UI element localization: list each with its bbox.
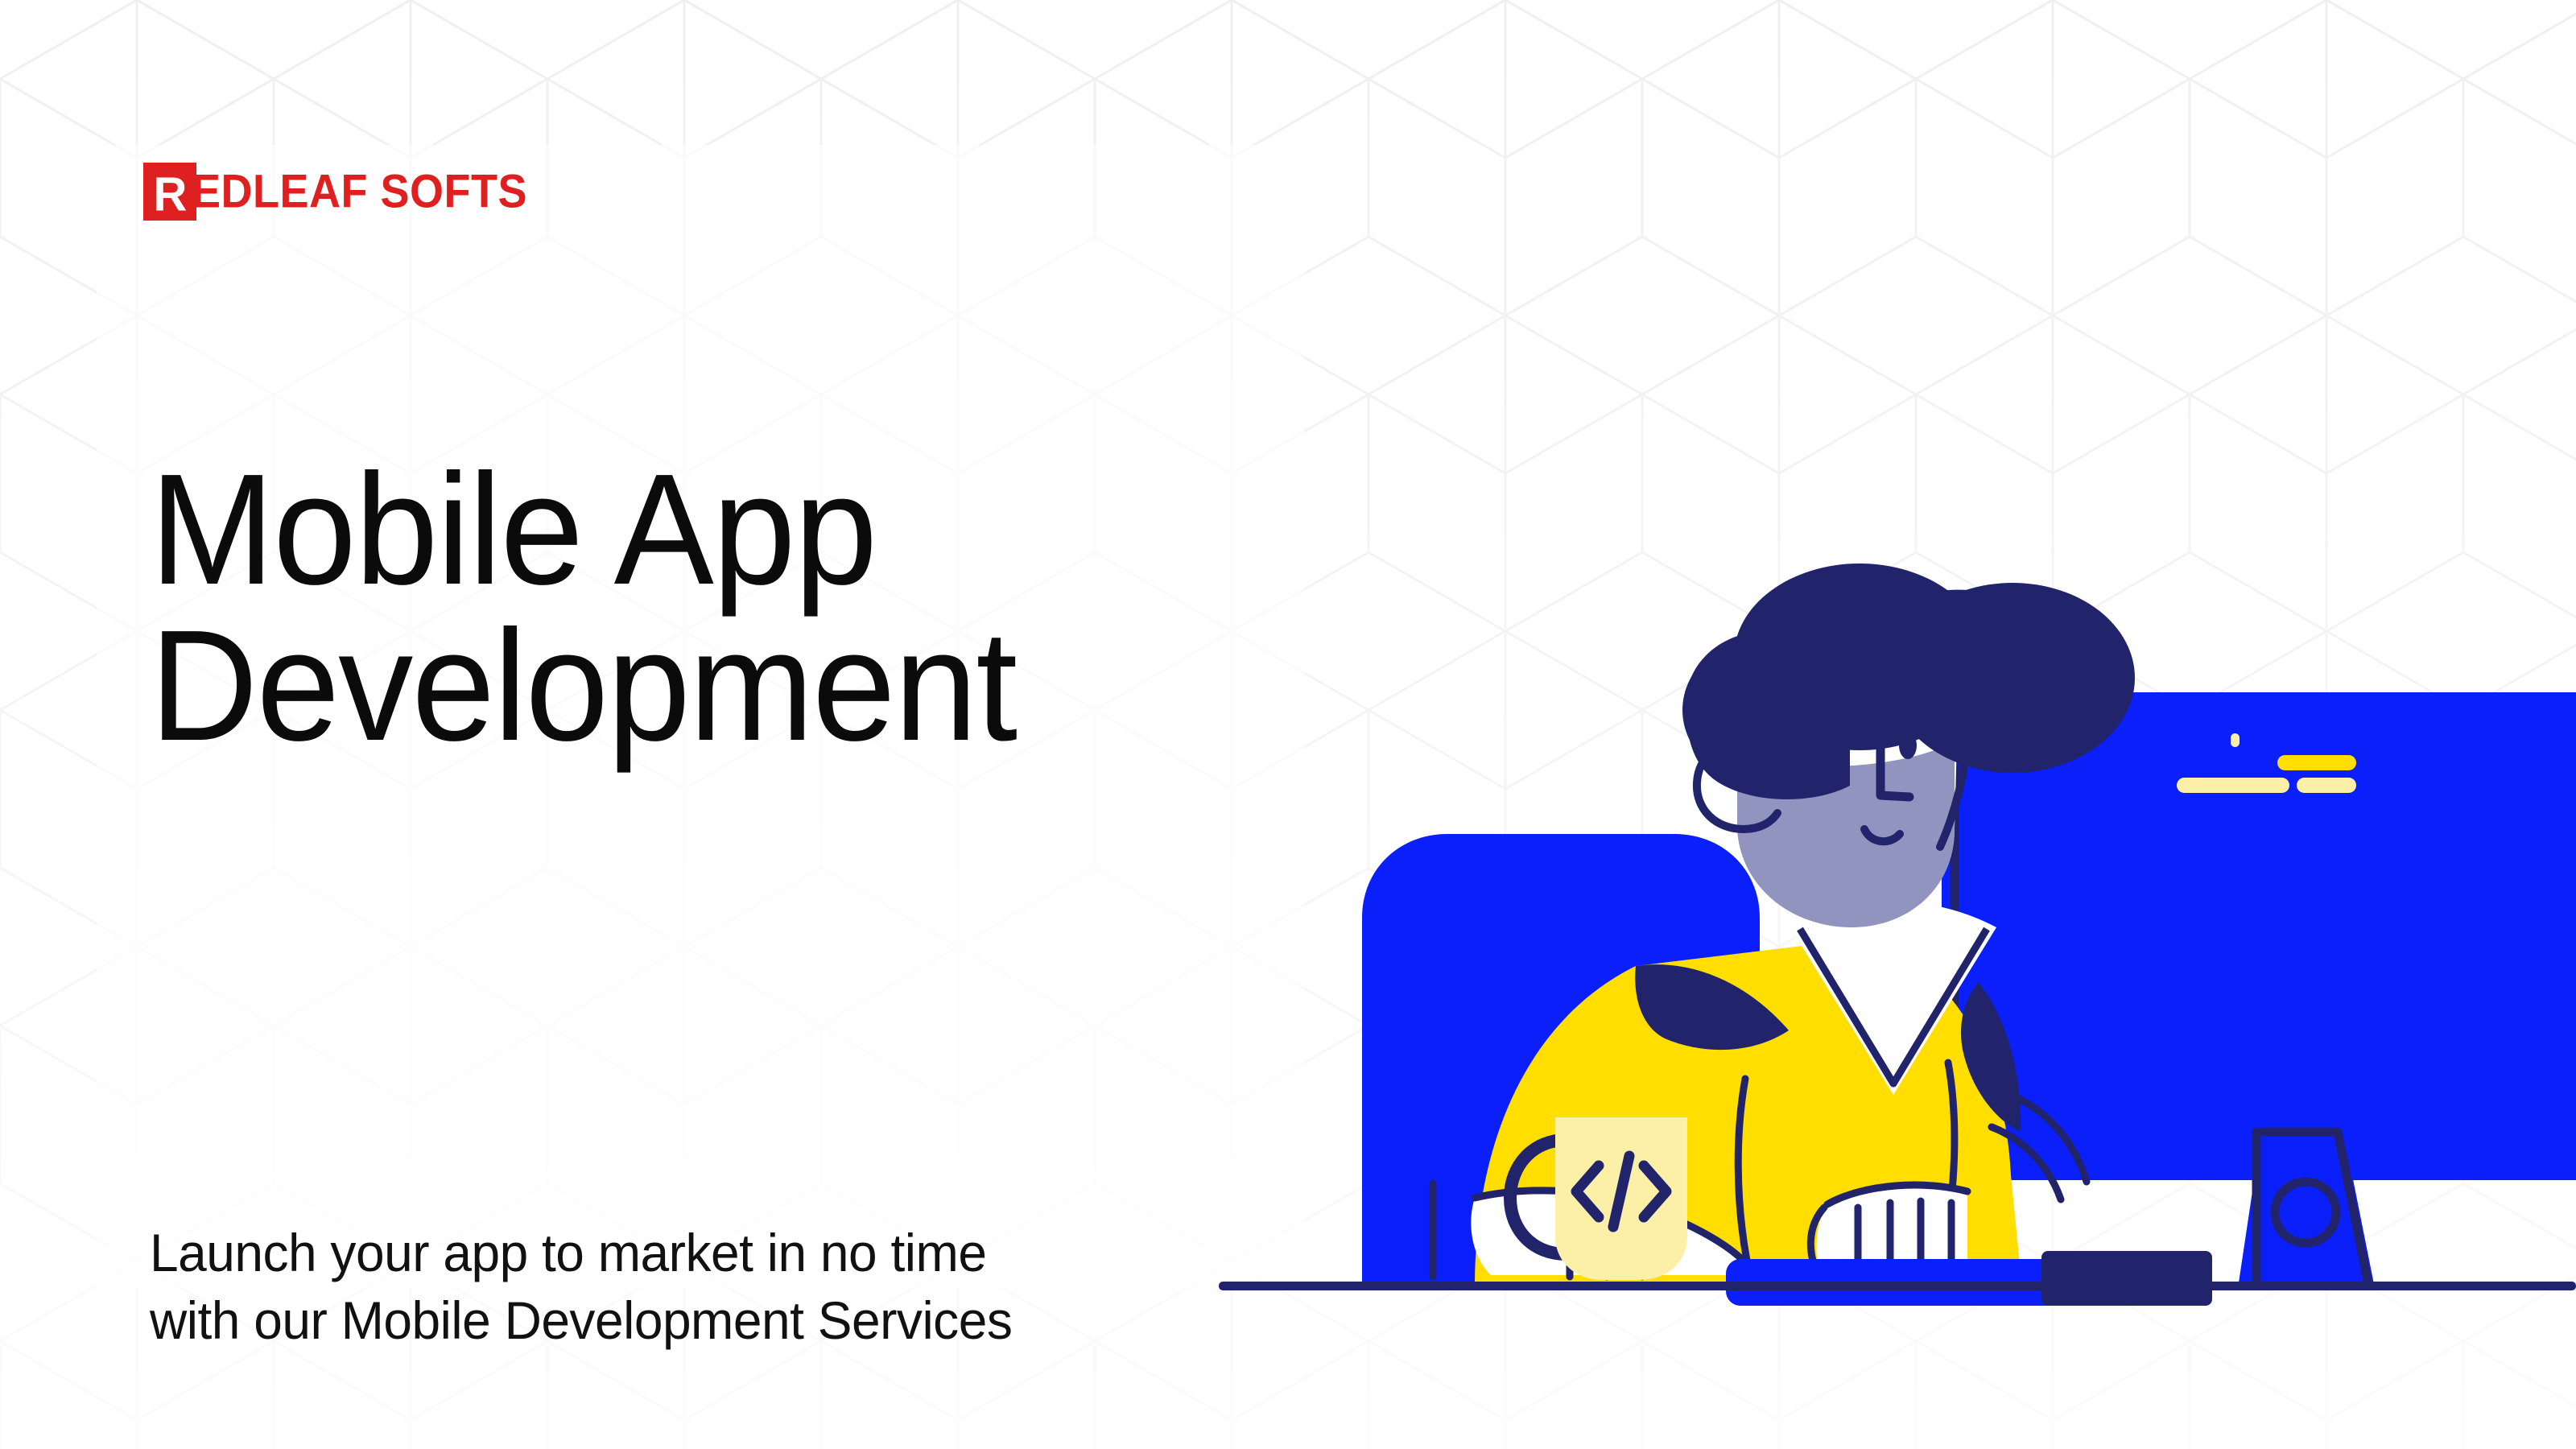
- code-line-bar: [2297, 778, 2356, 793]
- page-title: Mobile App Development: [150, 452, 1016, 764]
- code-line-bar: [2159, 800, 2228, 815]
- code-line-bar: [2159, 755, 2270, 770]
- slide-canvas: R EDLEAF SOFTS Mobile App Development La…: [0, 0, 2576, 1449]
- logo-wordmark: EDLEAF SOFTS: [192, 168, 527, 215]
- code-line-bar: [2277, 755, 2356, 770]
- code-line-bar: [2363, 756, 2373, 770]
- code-line-row: [2141, 778, 2383, 793]
- code-line-row: [2141, 733, 2383, 748]
- code-line-bar: [2159, 733, 2223, 748]
- hero-subheading: Launch your app to market in no time wit…: [150, 1219, 1012, 1355]
- code-line-row: [2141, 800, 2383, 815]
- code-line-bar: [2247, 733, 2311, 748]
- logo-mark-square: R: [143, 163, 196, 221]
- keyboard: [1726, 1251, 2212, 1306]
- desk-line: [1219, 1282, 2576, 1290]
- hero-illustration: [1191, 563, 2576, 1328]
- code-line-bar: [2231, 733, 2240, 747]
- code-lines-decoration: [2141, 733, 2383, 821]
- code-line-bar: [2177, 778, 2289, 793]
- brand-logo[interactable]: R EDLEAF SOFTS: [143, 163, 527, 221]
- logo-mark-letter: R: [154, 171, 187, 219]
- code-line-row: [2141, 755, 2383, 770]
